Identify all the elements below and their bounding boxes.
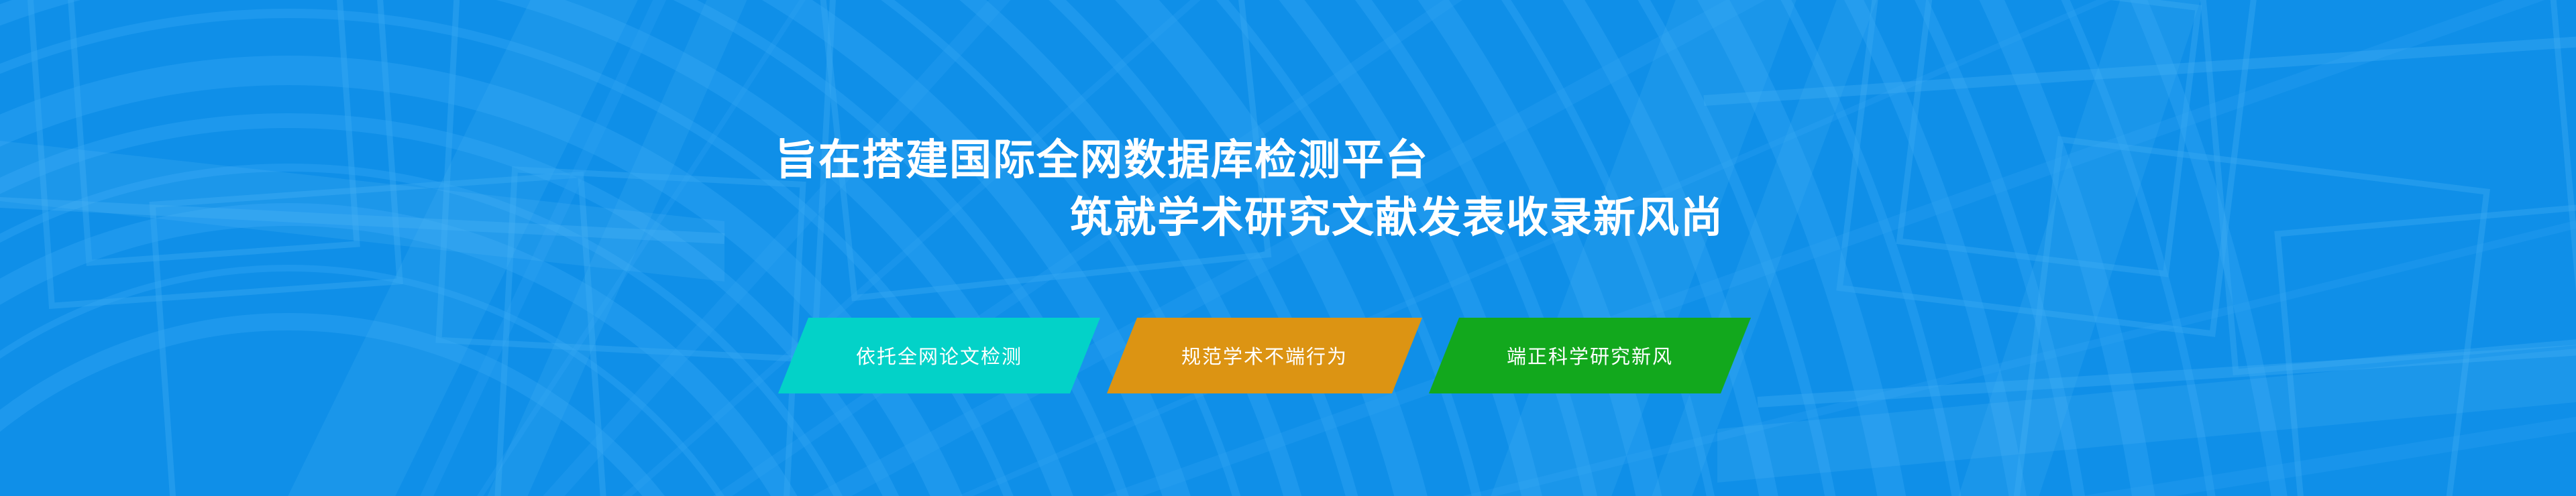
feature-tag-strip: 依托全网论文检测 规范学术不端行为 端正科学研究新风 <box>771 318 1818 393</box>
feature-tag-paper-detection[interactable]: 依托全网论文检测 <box>778 318 1100 393</box>
background-radial-spokes <box>0 0 2576 496</box>
headline-line-2: 筑就学术研究文献发表收录新风尚 <box>1070 189 2576 247</box>
headline-line-1: 旨在搭建国际全网数据库检测平台 <box>775 131 2576 189</box>
background-grid-outlines <box>0 0 2576 496</box>
feature-tag-academic-misconduct[interactable]: 规范学术不端行为 <box>1107 318 1422 393</box>
background-arc-rings <box>0 0 2576 496</box>
feature-tag-label: 端正科学研究新风 <box>1507 341 1673 369</box>
feature-tag-label: 依托全网论文检测 <box>856 341 1022 369</box>
feature-tag-research-ethos[interactable]: 端正科学研究新风 <box>1429 318 1751 393</box>
feature-tag-label: 规范学术不端行为 <box>1181 341 1348 369</box>
headline-block: 旨在搭建国际全网数据库检测平台 筑就学术研究文献发表收录新风尚 <box>0 131 2576 247</box>
hero-banner: 旨在搭建国际全网数据库检测平台 筑就学术研究文献发表收录新风尚 依托全网论文检测… <box>0 0 2576 496</box>
background-light-bands <box>0 0 2576 496</box>
